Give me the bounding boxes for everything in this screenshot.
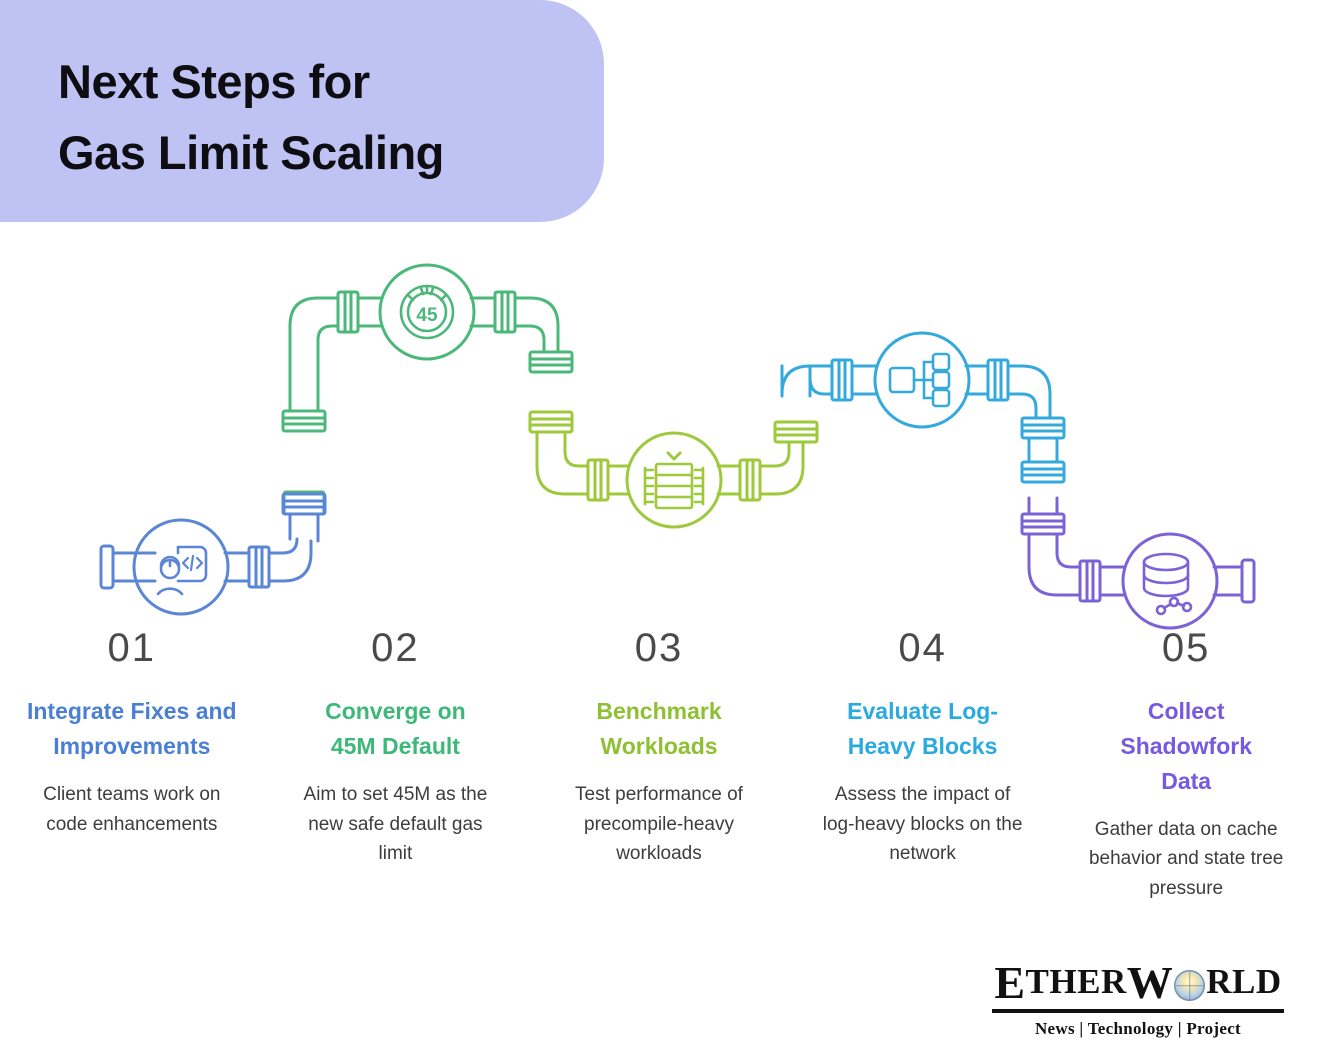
- step-item-05: 05 Collect Shadowfork Data Gather data o…: [1054, 628, 1318, 904]
- step-number-01: 01: [14, 628, 250, 668]
- step-number-02: 02: [278, 628, 514, 668]
- step-item-01: 01 Integrate Fixes and Improvements Clie…: [0, 628, 264, 839]
- title-line-2: Gas Limit Scaling: [58, 117, 578, 188]
- developer-code-icon: [158, 547, 206, 594]
- pipeline-diagram: 45: [0, 236, 1318, 636]
- step-number-03: 03: [541, 628, 777, 668]
- logo-tagline: News | Technology | Project: [992, 1019, 1284, 1039]
- gauge-value-label: 45: [416, 305, 438, 326]
- step-title-04: Evaluate Log-Heavy Blocks: [828, 694, 1018, 764]
- step-item-02: 02 Converge on 45M Default Aim to set 45…: [264, 628, 528, 869]
- step-description-05: Gather data on cache behavior and state …: [1084, 815, 1288, 904]
- step-description-03: Test performance of precompile-heavy wor…: [554, 780, 764, 869]
- step-description-04: Assess the impact of log-heavy blocks on…: [822, 780, 1024, 869]
- step-description-01: Client teams work on code enhancements: [34, 780, 230, 839]
- pipe-riser-02-03: [530, 352, 572, 444]
- database-analytics-icon: [1144, 554, 1191, 614]
- steps-row: 01 Integrate Fixes and Improvements Clie…: [0, 628, 1318, 928]
- infographic-canvas: Next Steps for Gas Limit Scaling: [0, 0, 1318, 1055]
- logo-wordmark: ETHERWRLD: [992, 959, 1284, 1007]
- step-description-02: Aim to set 45M as the new safe default g…: [289, 780, 501, 869]
- step-title-03: Benchmark Workloads: [573, 694, 745, 764]
- page-title: Next Steps for Gas Limit Scaling: [58, 46, 578, 189]
- logo-text-rld: RLD: [1206, 964, 1281, 1001]
- title-line-1: Next Steps for: [58, 55, 370, 108]
- globe-icon: [1174, 970, 1205, 1001]
- pipe-segment-05: [1029, 534, 1254, 628]
- step-item-03: 03 Benchmark Workloads Test performance …: [527, 628, 791, 869]
- server-benchmark-icon: [645, 453, 703, 508]
- step-number-05: 05: [1068, 628, 1304, 668]
- pipe-riser-04-05: [1022, 418, 1064, 546]
- logo-divider: [992, 1009, 1284, 1013]
- pipeline-svg: 45: [0, 236, 1318, 636]
- step-number-04: 04: [805, 628, 1041, 668]
- pipe-segment-03: [537, 433, 803, 527]
- logo-text-ther: THER: [1026, 964, 1127, 1001]
- step-item-04: 04 Evaluate Log-Heavy Blocks Assess the …: [791, 628, 1055, 869]
- pipe-riser-collars: [283, 366, 325, 541]
- step-title-02: Converge on 45M Default: [305, 694, 485, 764]
- gauge-45-icon: 45: [401, 286, 453, 338]
- step-title-05: Collect Shadowfork Data: [1102, 694, 1270, 799]
- logo-letter-w: W: [1127, 959, 1174, 1007]
- logo-letter-e: E: [994, 959, 1025, 1007]
- step-title-01: Integrate Fixes and Improvements: [24, 694, 239, 764]
- network-share-icon: [890, 354, 949, 406]
- etherworld-logo: ETHERWRLD News | Technology | Project: [992, 959, 1284, 1039]
